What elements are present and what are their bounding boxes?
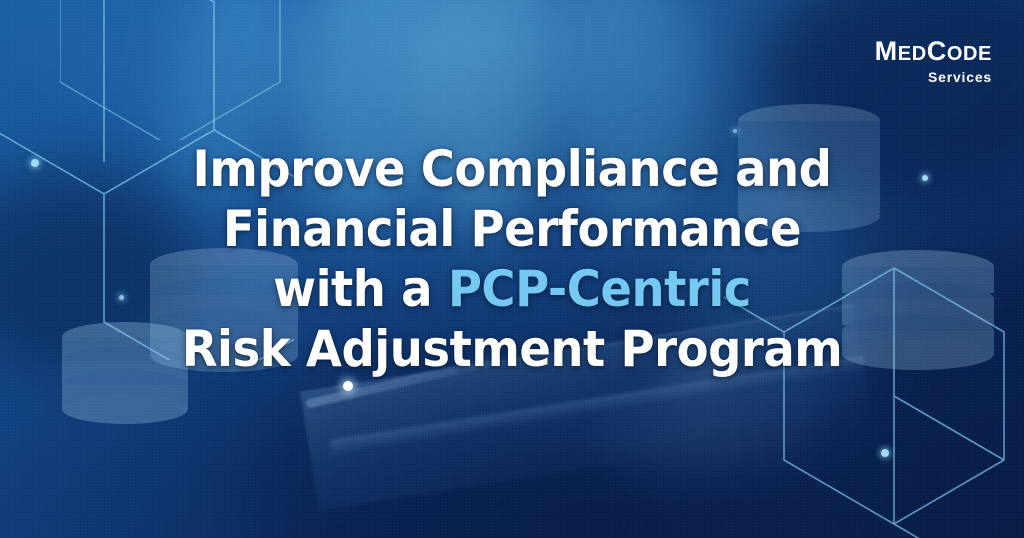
headline-line-3: with a PCP-Centric [58, 259, 966, 319]
headline-line-1-text: Improve Compliance and [193, 140, 832, 198]
logo-tagline: Services [875, 70, 992, 84]
logo-wordmark: MEDCODE [875, 38, 992, 65]
headline-line-1: Improve Compliance and [58, 139, 966, 199]
headline-line-2-text: Financial Performance [223, 200, 801, 258]
headline-block: Improve Compliance and Financial Perform… [0, 139, 1024, 379]
logo-letter-c: C [927, 36, 947, 66]
headline-line-4-text: Risk Adjustment Program [182, 320, 843, 378]
logo-letters-ode: ODE [947, 43, 992, 65]
logo-letters-ed: ED [898, 43, 927, 65]
headline-line-4: Risk Adjustment Program [58, 319, 966, 379]
headline-line-2: Financial Performance [58, 199, 966, 259]
particle-dot-4 [733, 129, 737, 133]
headline-line-3-text: with a [273, 260, 448, 318]
logo-letter-m: M [875, 36, 898, 66]
medcode-services-logo[interactable]: MEDCODE Services [875, 38, 992, 84]
headline-accent-phrase: PCP-Centric [448, 260, 751, 318]
hex-node-right [881, 449, 889, 457]
promotional-banner: MEDCODE Services Improve Compliance and … [0, 0, 1024, 538]
particle-dot-3 [343, 381, 353, 391]
